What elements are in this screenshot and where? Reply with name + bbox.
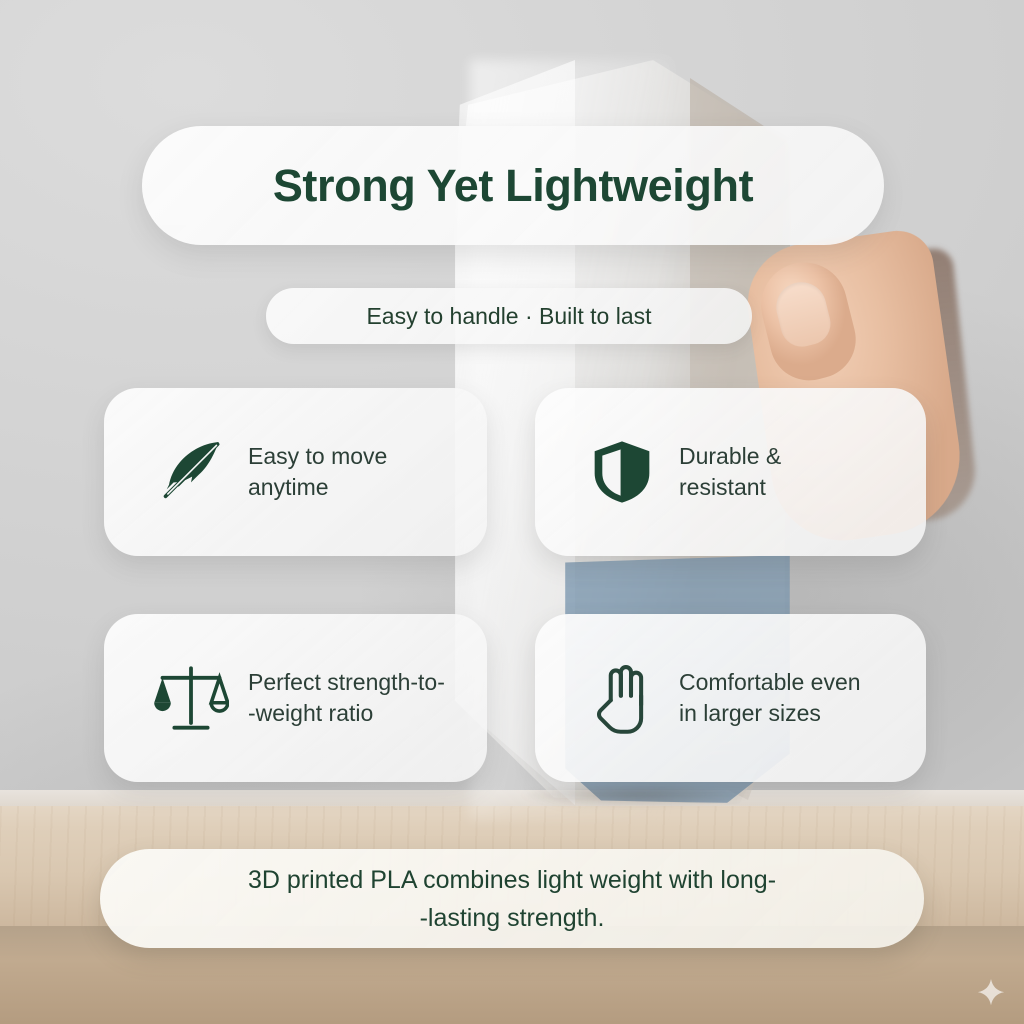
feature-card-durable[interactable]: Durable & resistant [535, 388, 926, 556]
feature-label: Comfortable even in larger sizes [679, 667, 861, 729]
shield-icon [579, 429, 665, 515]
footer-pill: 3D printed PLA combines light weight wit… [100, 849, 924, 948]
feature-card-grid: Easy to move anytime Durable & resistant [104, 388, 926, 788]
feature-card-strength-to-weight[interactable]: Perfect strength-to- -weight ratio [104, 614, 487, 782]
sparkle-icon [976, 978, 1006, 1008]
page-title: Strong Yet Lightweight [273, 160, 753, 212]
scale-icon [148, 655, 234, 741]
feather-icon [148, 429, 234, 515]
feature-card-comfortable[interactable]: Comfortable even in larger sizes [535, 614, 926, 782]
infographic-canvas: Strong Yet Lightweight Easy to handle · … [0, 0, 1024, 1024]
hand-icon [579, 655, 665, 741]
page-subtitle: Easy to handle · Built to last [366, 303, 651, 330]
feature-card-easy-to-move[interactable]: Easy to move anytime [104, 388, 487, 556]
feature-label: Durable & resistant [679, 441, 781, 503]
subtitle-pill: Easy to handle · Built to last [266, 288, 752, 344]
title-pill: Strong Yet Lightweight [142, 126, 884, 245]
feature-label: Perfect strength-to- -weight ratio [248, 667, 465, 729]
footer-text: 3D printed PLA combines light weight wit… [248, 861, 776, 937]
feature-label: Easy to move anytime [248, 441, 387, 503]
